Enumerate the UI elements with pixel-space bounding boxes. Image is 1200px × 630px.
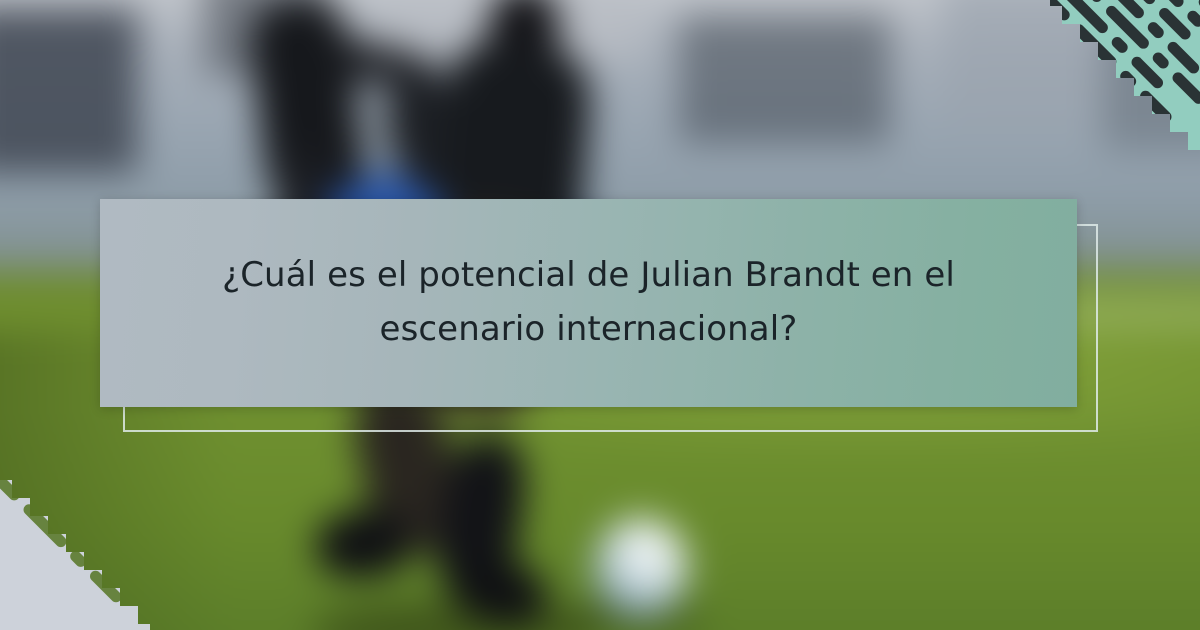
stand-block [0,8,138,173]
quote-text: ¿Cuál es el potencial de Julian Brandt e… [219,249,959,356]
stand-block [679,15,890,143]
soccer-ball [593,518,688,619]
stand-block [1102,30,1200,150]
share-card-canvas: ¿Cuál es el potencial de Julian Brandt e… [0,0,1200,630]
quote-card: ¿Cuál es el potencial de Julian Brandt e… [100,199,1077,407]
